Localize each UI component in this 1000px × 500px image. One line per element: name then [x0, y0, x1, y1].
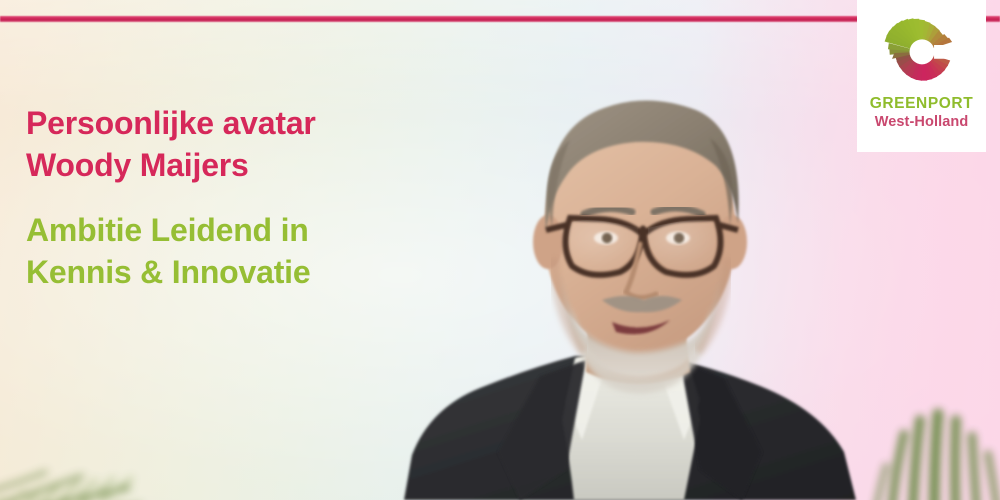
page-subtitle: Ambitie Leidend in Kennis & Innovatie	[26, 210, 446, 293]
slide-text-block: Persoonlijke avatar Woody Maijers Ambiti…	[26, 103, 446, 293]
video-slide-frame: Persoonlijke avatar Woody Maijers Ambiti…	[0, 0, 1000, 500]
logo-subword: West-Holland	[875, 115, 969, 130]
logo-wordmark: GREENPORT	[870, 96, 974, 112]
greenport-sunburst-c-icon	[879, 14, 965, 88]
blurred-palm-frond	[0, 380, 230, 500]
blurred-grass-plant	[860, 390, 1000, 500]
page-title: Persoonlijke avatar Woody Maijers	[26, 103, 446, 186]
greenport-logo-card: GREENPORT West-Holland	[857, 0, 986, 152]
top-accent-rule	[0, 16, 1000, 22]
